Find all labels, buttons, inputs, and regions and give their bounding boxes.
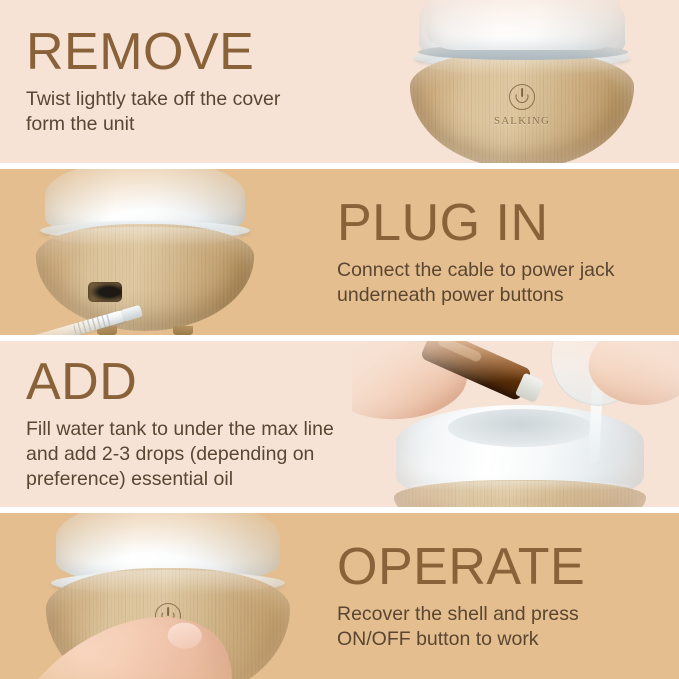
diffuser-wood-base	[394, 480, 646, 507]
step-heading-plug-in: PLUG IN	[337, 197, 679, 249]
diffuser-cover	[426, 0, 620, 50]
body-line: and add 2-3 drops (depending on	[26, 442, 352, 467]
panel-divider	[0, 335, 679, 341]
step-body-operate: Recover the shell and press ON/OFF butto…	[337, 602, 679, 652]
step-heading-add: ADD	[26, 356, 352, 408]
step-photo-remove: SALKING	[352, 0, 679, 163]
step-text-plug-in: PLUG IN Connect the cable to power jack …	[307, 169, 679, 335]
diffuser-unit	[36, 169, 254, 331]
step-photo-add	[352, 341, 679, 507]
tank-opening	[448, 409, 594, 447]
step-photo-operate: SALKING	[0, 513, 307, 679]
body-line: Twist lightly take off the cover	[26, 87, 352, 112]
instruction-sheet: REMOVE Twist lightly take off the cover …	[0, 0, 679, 679]
fingernail	[167, 622, 202, 649]
body-line: Recover the shell and press	[337, 602, 679, 627]
step-heading-remove: REMOVE	[26, 26, 352, 78]
step-panel-add: ADD Fill water tank to under the max lin…	[0, 341, 679, 507]
step-body-add: Fill water tank to under the max line an…	[26, 417, 352, 492]
diffuser-unit: SALKING	[46, 513, 290, 679]
step-panel-operate: SALKING OPERATE Recover the shell and pr…	[0, 513, 679, 679]
power-jack-port	[88, 282, 122, 302]
step-body-plug-in: Connect the cable to power jack undernea…	[337, 258, 679, 308]
panel-divider	[0, 163, 679, 169]
brand-label: SALKING	[494, 115, 550, 127]
body-line: preference) essential oil	[26, 467, 352, 492]
step-text-operate: OPERATE Recover the shell and press ON/O…	[307, 513, 679, 679]
step-text-remove: REMOVE Twist lightly take off the cover …	[0, 0, 352, 163]
step-body-remove: Twist lightly take off the cover form th…	[26, 87, 352, 137]
pour-scene	[352, 341, 679, 507]
step-panel-remove: REMOVE Twist lightly take off the cover …	[0, 0, 679, 163]
body-line: form the unit	[26, 112, 352, 137]
step-panel-plug-in: PLUG IN Connect the cable to power jack …	[0, 169, 679, 335]
panel-divider	[0, 507, 679, 513]
body-line: ON/OFF button to work	[337, 627, 679, 652]
diffuser-wood-base	[36, 224, 254, 331]
step-heading-operate: OPERATE	[337, 541, 679, 593]
step-text-add: ADD Fill water tank to under the max lin…	[0, 341, 352, 507]
diffuser-brandmark: SALKING	[494, 84, 550, 127]
step-photo-plug-in	[0, 169, 307, 335]
power-button-icon	[509, 84, 535, 110]
body-line: underneath power buttons	[337, 283, 679, 308]
body-line: Fill water tank to under the max line	[26, 417, 352, 442]
body-line: Connect the cable to power jack	[337, 258, 679, 283]
diffuser-foot	[173, 326, 193, 335]
